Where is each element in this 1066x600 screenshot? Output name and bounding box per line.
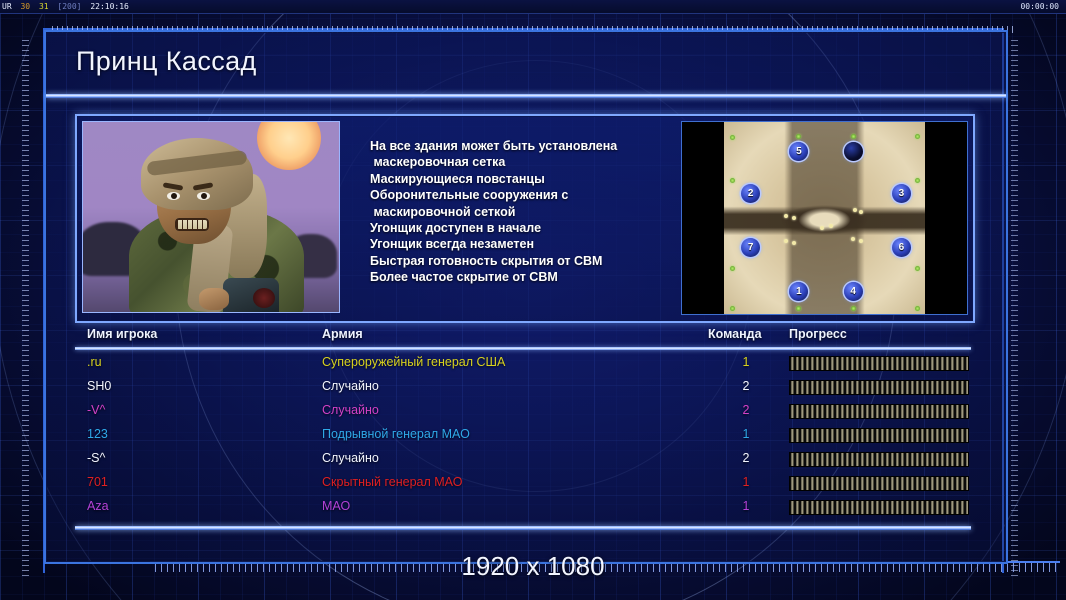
- player-progress-bar: [789, 428, 969, 443]
- general-description: На все здания может быть установлена мас…: [340, 116, 681, 321]
- start-position-marker[interactable]: 3: [892, 184, 911, 203]
- description-line: Более частое скрытие от СВМ: [370, 269, 681, 285]
- player-name: .ru: [87, 355, 102, 369]
- oil-derrick-marker: [784, 214, 788, 218]
- player-team: 1: [738, 499, 754, 513]
- player-team: 1: [738, 427, 754, 441]
- player-progress-bar: [789, 452, 969, 467]
- player-team: 2: [738, 403, 754, 417]
- table-row[interactable]: -S^Случайно2: [75, 448, 971, 472]
- start-position-marker[interactable]: 2: [741, 184, 760, 203]
- portrait-teeth: [175, 218, 209, 231]
- oil-derrick-marker: [859, 239, 863, 243]
- player-army: Случайно: [322, 451, 379, 465]
- supply-dock-marker: [730, 178, 735, 183]
- resolution-label: 1920 x 1080: [0, 551, 1066, 582]
- oil-derrick-marker: [851, 237, 855, 241]
- player-name: 123: [87, 427, 108, 441]
- supply-dock-marker: [915, 134, 920, 139]
- status-bar: UR 30 31 [200] 22:10:16 00:00:00: [0, 0, 1066, 14]
- description-line: Угонщик всегда незаметен: [370, 236, 681, 252]
- status-clock-left: 22:10:16: [88, 2, 131, 11]
- start-position-marker[interactable]: 5: [789, 142, 808, 161]
- player-team: 2: [738, 451, 754, 465]
- description-line: маскировочной сеткой: [370, 204, 681, 220]
- player-progress-bar: [789, 404, 969, 419]
- oil-derrick-marker: [792, 216, 796, 220]
- progress-fill: [790, 405, 968, 418]
- table-row[interactable]: SH0Случайно2: [75, 376, 971, 400]
- player-team: 1: [738, 355, 754, 369]
- ruler-left: [22, 40, 29, 580]
- description-line: Оборонительные сооружения с: [370, 187, 681, 203]
- start-position-marker[interactable]: 1: [789, 282, 808, 301]
- portrait-turban: [141, 138, 253, 210]
- table-bottom-divider: [75, 526, 971, 530]
- status-clock-right: 00:00:00: [1020, 0, 1059, 13]
- status-value-b: 31: [37, 2, 51, 11]
- progress-fill: [790, 501, 968, 514]
- supply-dock-marker: [730, 135, 735, 140]
- general-info-panel: Принц Кассад На все зда: [44, 30, 1008, 564]
- player-progress-bar: [789, 380, 969, 395]
- supply-dock-marker: [796, 306, 801, 311]
- player-progress-bar: [789, 500, 969, 515]
- oil-derrick-marker: [792, 241, 796, 245]
- progress-fill: [790, 477, 968, 490]
- status-prefix: UR: [0, 2, 14, 11]
- general-portrait: [82, 121, 340, 313]
- player-name: Aza: [87, 499, 109, 513]
- player-army: Подрывной генерал МАО: [322, 427, 470, 441]
- oil-derrick-marker: [859, 210, 863, 214]
- table-header-row: Имя игрока Армия Команда Прогресс: [75, 327, 971, 349]
- player-army: Случайно: [322, 403, 379, 417]
- start-position-marker[interactable]: 6: [892, 238, 911, 257]
- player-army: МАО: [322, 499, 350, 513]
- minimap-frame: 5237614: [681, 121, 968, 315]
- player-team: 2: [738, 379, 754, 393]
- table-row[interactable]: 123Подрывной генерал МАО1: [75, 424, 971, 448]
- general-details-box: На все здания может быть установлена мас…: [75, 114, 975, 323]
- table-row[interactable]: -V^Случайно2: [75, 400, 971, 424]
- progress-fill: [790, 381, 968, 394]
- supply-dock-marker: [851, 306, 856, 311]
- title-divider: [46, 94, 1006, 98]
- player-name: -V^: [87, 403, 105, 417]
- portrait-hand: [199, 288, 229, 310]
- progress-fill: [790, 453, 968, 466]
- column-header-progress: Прогресс: [789, 327, 847, 341]
- supply-dock-marker: [730, 306, 735, 311]
- supply-dock-marker: [730, 266, 735, 271]
- status-bracket: [200]: [55, 2, 83, 11]
- player-progress-bar: [789, 476, 969, 491]
- supply-dock-marker: [915, 266, 920, 271]
- minimap-image: 5237614: [724, 122, 925, 314]
- supply-dock-marker: [915, 306, 920, 311]
- description-line: Маскирующиеся повстанцы: [370, 171, 681, 187]
- supply-dock-marker: [796, 134, 801, 139]
- players-table: Имя игрока Армия Команда Прогресс .ruСуп…: [75, 327, 971, 522]
- player-army: Случайно: [322, 379, 379, 393]
- portrait-eye: [167, 192, 180, 200]
- player-name: -S^: [87, 451, 105, 465]
- page-title: Принц Кассад: [76, 46, 257, 77]
- table-body: .ruСупероружейный генерал США1SH0Случайн…: [75, 352, 971, 520]
- player-name: SH0: [87, 379, 111, 393]
- description-line: На все здания может быть установлена: [370, 138, 681, 154]
- game-screen: UR 30 31 [200] 22:10:16 00:00:00 Принц К…: [0, 0, 1066, 600]
- start-position-marker[interactable]: 7: [741, 238, 760, 257]
- portrait-weapon: [223, 278, 279, 312]
- table-row[interactable]: .ruСупероружейный генерал США1: [75, 352, 971, 376]
- oil-derrick-marker: [820, 226, 824, 230]
- table-row[interactable]: AzaМАО1: [75, 496, 971, 520]
- supply-dock-marker: [915, 178, 920, 183]
- portrait-eye: [197, 192, 210, 200]
- oil-derrick-marker: [784, 239, 788, 243]
- ruler-right: [1011, 40, 1018, 580]
- start-position-marker[interactable]: 4: [844, 282, 863, 301]
- description-line: маскеровочная сетка: [370, 154, 681, 170]
- table-header-divider: [75, 347, 971, 350]
- column-header-player: Имя игрока: [87, 327, 157, 341]
- player-name: 701: [87, 475, 108, 489]
- player-team: 1: [738, 475, 754, 489]
- column-header-army: Армия: [322, 327, 363, 341]
- description-line: Быстрая готовность скрытия от СВМ: [370, 253, 681, 269]
- status-value-a: 30: [18, 2, 32, 11]
- player-army: Скрытный генерал МАО: [322, 475, 462, 489]
- description-line: Угонщик доступен в начале: [370, 220, 681, 236]
- table-row[interactable]: 701Скрытный генерал МАО1: [75, 472, 971, 496]
- supply-dock-marker: [851, 134, 856, 139]
- start-position-marker[interactable]: [844, 142, 863, 161]
- player-progress-bar: [789, 356, 969, 371]
- column-header-team: Команда: [708, 327, 762, 341]
- oil-derrick-marker: [829, 224, 833, 228]
- progress-fill: [790, 357, 968, 370]
- player-army: Супероружейный генерал США: [322, 355, 505, 369]
- progress-fill: [790, 429, 968, 442]
- oil-derrick-marker: [853, 208, 857, 212]
